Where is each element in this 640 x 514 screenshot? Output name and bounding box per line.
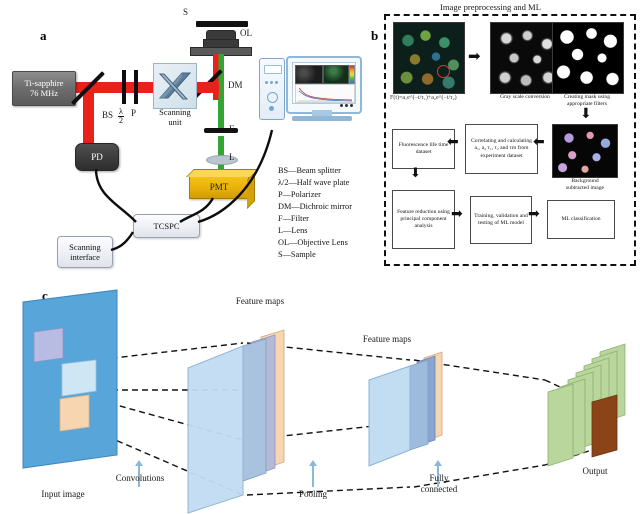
flowbox-correlating: Correlating and calculating a₁, a₂ τ₁, τ…: [465, 124, 538, 174]
panel-b-title: Image preprocessing and ML: [440, 2, 541, 12]
legend-item-bs: BS—Beam splitter: [278, 165, 352, 177]
arrow-pointer-pooling: [312, 465, 314, 487]
legend-item-s: S—Sample: [278, 249, 352, 261]
fully-connected-line2: connected: [408, 484, 470, 495]
screen-colorbar: [349, 65, 355, 84]
cable-pd-tcspc: [96, 169, 136, 222]
computer-monitor: [286, 56, 362, 114]
decay-curve-icon: [296, 85, 354, 102]
input-image-plane: [23, 290, 117, 468]
mask-image: [552, 22, 624, 94]
legend-item-dm: DM—Dichroic mirror: [278, 201, 352, 213]
caption-background-subtracted: Background subtracted image: [545, 178, 625, 191]
arrow-pca-to-training: ➡: [451, 208, 463, 222]
decay-equation: F(t)=a₁e^(−t/τ₁)+a₂e^(−t/τ₂): [390, 95, 457, 101]
monitor-stand-base: [292, 116, 352, 121]
fully-connected-line1: Fully: [408, 473, 470, 484]
flowbox-training: Training, validation and testing of ML m…: [470, 196, 532, 244]
computer-tower: [259, 58, 285, 120]
caption-bgsub-line2: subtracted image: [545, 185, 625, 192]
screen-flim-image-color: [323, 65, 349, 84]
label-output: Output: [565, 466, 625, 476]
feature-maps-stack-1: [188, 330, 284, 513]
label-fully-connected: Fully connected: [408, 473, 470, 495]
arrow-bgsub-to-correlating: ⬅: [533, 136, 545, 150]
flowbox-pca: Feature reduction using principal compon…: [392, 190, 455, 249]
arrow-training-to-classification: ➡: [528, 208, 540, 222]
legend-item-p: P—Polarizer: [278, 189, 352, 201]
arrow-raw-to-gray: ➡: [468, 50, 481, 65]
legend-item-l: L—Lens: [278, 225, 352, 237]
tower-power-button[interactable]: [267, 92, 278, 103]
caption-bgsub-line1: Background: [545, 178, 625, 185]
monitor-screen: [292, 62, 356, 104]
arrow-fluorescence-to-pca: ⬇: [410, 166, 421, 179]
cnn-diagram: [0, 280, 640, 514]
label-feature-maps-2: Feature maps: [347, 334, 427, 344]
caption-mask-line1: Creating mask using: [545, 94, 629, 101]
tower-drive-slot: [264, 65, 282, 74]
background-subtracted-image: [552, 124, 618, 178]
flowbox-ml-classification: ML classification: [547, 200, 615, 239]
screen-flim-image-gray: [295, 65, 323, 84]
tower-indicator-dot: [269, 106, 274, 111]
caption-mask: Creating mask using appropriate filters: [545, 94, 629, 107]
cable-tcspc-computer: [198, 130, 272, 222]
screen-decay-plot: [295, 84, 355, 103]
cable-group: [0, 0, 320, 290]
feature-maps-stack-2: [369, 352, 442, 466]
legend-item-halfwave: λ/2—Half wave plate: [278, 177, 352, 189]
arrow-mask-to-bgsub: ⬇: [580, 108, 592, 122]
cable-tcspc-scanning-interface: [111, 232, 133, 250]
panel-a-legend: BS—Beam splitter λ/2—Half wave plate P—P…: [278, 165, 352, 261]
legend-item-ol: OL—Objective Lens: [278, 237, 352, 249]
tower-leds: [265, 81, 278, 84]
label-feature-maps-1: Feature maps: [220, 296, 300, 306]
label-pooling: Pooling: [283, 489, 343, 499]
output-block: [592, 395, 617, 457]
figure-root: a S OL DM F L PMT Ti-sapphire: [0, 0, 640, 514]
label-convolutions: Convolutions: [105, 473, 175, 483]
monitor-buttons: [340, 104, 353, 107]
flowbox-fluorescence-dataset: Fluorescence life time dataset: [392, 129, 455, 169]
legend-item-f: F—Filter: [278, 213, 352, 225]
roi-circle-marker: [437, 65, 450, 78]
label-input-image: Input image: [8, 489, 118, 499]
panel-b-letter: b: [371, 28, 378, 44]
arrow-correlating-to-fluorescence: ⬅: [447, 136, 459, 150]
flim-raw-image: [393, 22, 465, 94]
